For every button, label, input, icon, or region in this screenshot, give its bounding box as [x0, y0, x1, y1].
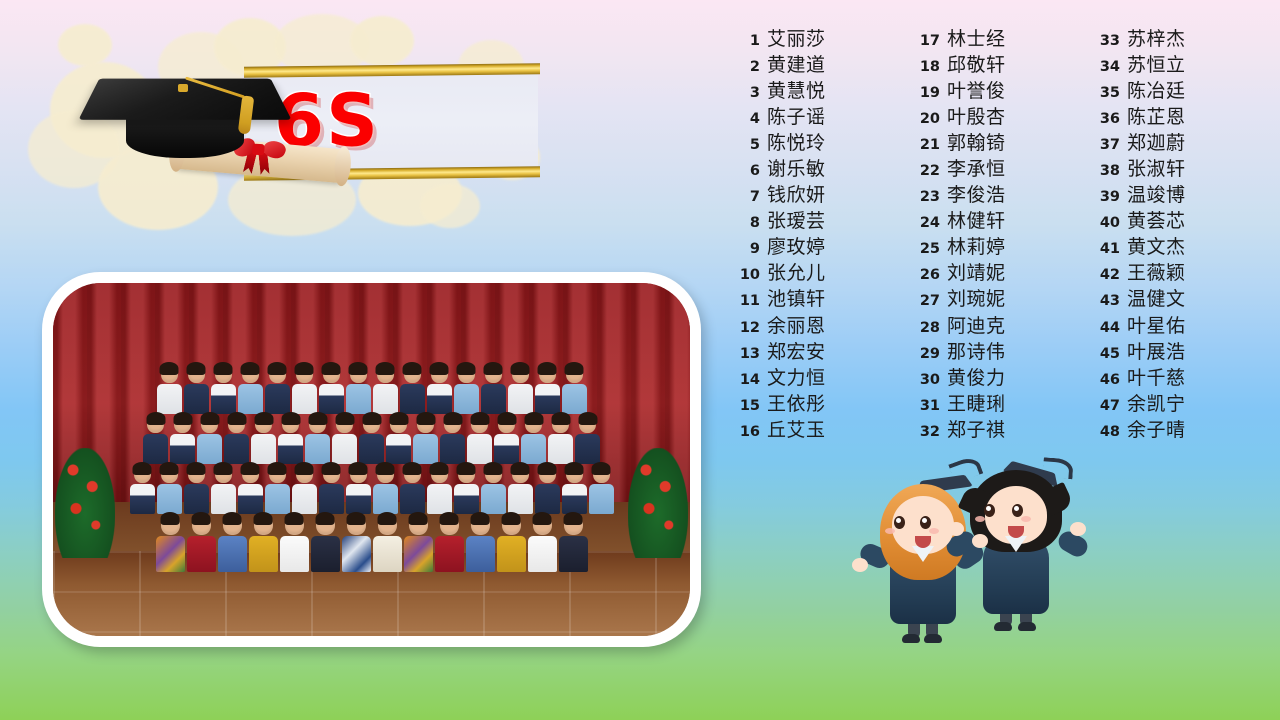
student-name: 钱欣妍	[767, 180, 826, 207]
photo-person-student	[440, 414, 465, 464]
photo-person-body	[211, 384, 236, 414]
name-list-item: 29那诗伟	[906, 337, 1086, 363]
photo-person-head	[378, 514, 397, 535]
photo-person-body	[575, 434, 600, 464]
name-list-item: 26刘靖妮	[906, 258, 1086, 284]
photo-person-student	[373, 464, 398, 514]
student-name: 黄慧悦	[767, 76, 826, 103]
photo-person-hair	[524, 412, 543, 425]
name-list-item: 30黄俊力	[906, 363, 1086, 389]
student-name: 叶展浩	[1127, 337, 1186, 364]
photo-person-hair	[295, 362, 314, 375]
student-number: 30	[906, 372, 940, 388]
photo-person-hair	[268, 462, 287, 475]
photo-person-head	[188, 364, 205, 383]
photo-person-head	[566, 364, 583, 383]
student-name: 林莉婷	[947, 232, 1006, 259]
photo-person-adult	[311, 514, 340, 572]
photo-person-head	[192, 514, 211, 535]
eye	[984, 504, 995, 517]
photo-person-student	[143, 414, 168, 464]
photo-person-student	[157, 364, 182, 414]
photo-person-head	[201, 414, 218, 433]
photo-person-head	[431, 364, 448, 383]
student-number: 22	[906, 163, 940, 179]
photo-person-hair	[443, 412, 462, 425]
photo-person-head	[431, 464, 448, 483]
student-number: 6	[726, 163, 760, 179]
student-number: 26	[906, 267, 940, 283]
student-number: 27	[906, 293, 940, 309]
photo-person-adult	[528, 514, 557, 572]
student-name: 阿迪克	[947, 311, 1006, 338]
photo-person-head	[512, 464, 529, 483]
photo-person-body	[400, 384, 425, 414]
photo-person-head	[564, 514, 583, 535]
photo-person-head	[471, 514, 490, 535]
photo-person-body	[238, 384, 263, 414]
student-number: 3	[726, 85, 760, 101]
photo-person-hair	[409, 512, 428, 525]
name-list-item: 13郑宏安	[726, 337, 906, 363]
student-name: 黄荟芯	[1127, 206, 1186, 233]
photo-person-body	[400, 484, 425, 514]
photo-person-body	[156, 536, 185, 572]
photo-person-head	[458, 364, 475, 383]
name-list-item: 20叶殷杏	[906, 102, 1086, 128]
photo-person-head	[269, 464, 286, 483]
photo-person-adult	[218, 514, 247, 572]
photo-person-head	[471, 414, 488, 433]
photo-person-adult	[342, 514, 371, 572]
photo-person-hair	[241, 362, 260, 375]
photo-person-student	[521, 414, 546, 464]
photo-person-head	[533, 514, 552, 535]
name-list-item: 5陈悦玲	[726, 128, 906, 154]
photo-person-head	[188, 464, 205, 483]
photo-person-hair	[349, 362, 368, 375]
photo-person-student	[305, 414, 330, 464]
student-name: 郑宏安	[767, 337, 826, 364]
photo-person-body	[305, 434, 330, 464]
name-list-item: 46叶千慈	[1086, 363, 1266, 389]
photo-person-student	[238, 464, 263, 514]
photo-person-hair	[502, 512, 521, 525]
photo-person-head	[498, 414, 515, 433]
photo-person-head	[525, 414, 542, 433]
photo-person-hair	[538, 462, 557, 475]
photo-person-hair	[592, 462, 611, 475]
photo-person-body	[319, 484, 344, 514]
student-number: 34	[1086, 59, 1120, 75]
student-number: 38	[1086, 163, 1120, 179]
photo-person-body	[562, 384, 587, 414]
photo-person-body	[143, 434, 168, 464]
photo-person-hair	[347, 512, 366, 525]
student-name: 余凯宁	[1127, 389, 1186, 416]
photo-person-head	[350, 464, 367, 483]
photo-person-hair	[281, 412, 300, 425]
photo-person-body	[265, 384, 290, 414]
photo-person-student	[508, 364, 533, 414]
photo-person-hair	[187, 362, 206, 375]
blush	[975, 516, 985, 522]
photo-person-hair	[497, 412, 516, 425]
photo-person-student	[481, 464, 506, 514]
name-list-item: 28阿迪克	[906, 311, 1086, 337]
student-name: 叶星佑	[1127, 311, 1186, 338]
student-number: 11	[726, 293, 760, 309]
photo-person-hair	[376, 362, 395, 375]
photo-person-body	[359, 434, 384, 464]
photo-person-hair	[578, 412, 597, 425]
photo-person-head	[161, 464, 178, 483]
photo-person-adult	[466, 514, 495, 572]
photo-person-head	[593, 464, 610, 483]
photo-person-body	[535, 484, 560, 514]
photo-person-head	[174, 414, 191, 433]
photo-person-student	[346, 464, 371, 514]
student-name: 李俊浩	[947, 180, 1006, 207]
photo-person-hair	[335, 412, 354, 425]
photo-person-student	[562, 364, 587, 414]
name-list-item: 44叶星佑	[1086, 311, 1266, 337]
photo-person-head	[440, 514, 459, 535]
student-number: 25	[906, 241, 940, 257]
student-number: 12	[726, 320, 760, 336]
photo-person-head	[323, 464, 340, 483]
student-number: 39	[1086, 189, 1120, 205]
photo-person-body	[413, 434, 438, 464]
name-list-item: 48余子晴	[1086, 415, 1266, 441]
shoe	[902, 634, 920, 643]
student-name: 温健文	[1127, 284, 1186, 311]
name-list-item: 45叶展浩	[1086, 337, 1266, 363]
photo-person-adult	[404, 514, 433, 572]
student-name: 张淑轩	[1127, 154, 1186, 181]
photo-person-head	[347, 514, 366, 535]
photo-person-head	[147, 414, 164, 433]
photo-person-body	[346, 484, 371, 514]
photo-person-hair	[484, 462, 503, 475]
photo-person-student	[130, 464, 155, 514]
photo-person-body	[197, 434, 222, 464]
photo-person-body	[278, 434, 303, 464]
name-list-item: 27刘琬妮	[906, 284, 1086, 310]
photo-person-hair	[295, 462, 314, 475]
photo-person-body	[548, 434, 573, 464]
photo-person-body	[467, 434, 492, 464]
hand	[948, 522, 964, 536]
photo-person-body	[187, 536, 216, 572]
photo-person-head	[485, 464, 502, 483]
photo-person-hair	[187, 462, 206, 475]
eye	[894, 516, 905, 529]
photo-person-hair	[538, 362, 557, 375]
photo-person-student	[481, 364, 506, 414]
name-list-item: 32郑子祺	[906, 415, 1086, 441]
photo-person-head	[409, 514, 428, 535]
photo-person-adult	[373, 514, 402, 572]
photo-person-hair	[173, 412, 192, 425]
student-number: 20	[906, 111, 940, 127]
name-list-item: 42王薇颖	[1086, 258, 1266, 284]
student-name: 叶誉俊	[947, 76, 1006, 103]
photo-person-hair	[471, 512, 490, 525]
student-number: 31	[906, 398, 940, 414]
name-list-item: 3黄慧悦	[726, 76, 906, 102]
photo-person-adult	[280, 514, 309, 572]
photo-person-student	[265, 464, 290, 514]
student-name: 陈子谣	[767, 102, 826, 129]
name-list-item: 8张瑷芸	[726, 206, 906, 232]
photo-person-body	[311, 536, 340, 572]
photo-person-body	[342, 536, 371, 572]
photo-person-hair	[214, 362, 233, 375]
student-name: 温竣博	[1127, 180, 1186, 207]
student-name: 林士经	[947, 24, 1006, 51]
photo-row-back	[53, 364, 690, 414]
photo-person-body	[497, 536, 526, 572]
student-number: 5	[726, 137, 760, 153]
hand	[1070, 522, 1086, 536]
student-number: 47	[1086, 398, 1120, 414]
photo-person-head	[579, 414, 596, 433]
photo-person-body	[404, 536, 433, 572]
name-list-item: 21郭翰锜	[906, 128, 1086, 154]
photo-person-body	[528, 536, 557, 572]
photo-person-student	[292, 464, 317, 514]
photo-person-body	[481, 384, 506, 414]
student-number: 35	[1086, 85, 1120, 101]
student-name: 邱敬轩	[947, 50, 1006, 77]
cloud-blob	[350, 16, 414, 66]
photo-person-head	[269, 364, 286, 383]
photo-person-student	[548, 414, 573, 464]
photo-person-hair	[457, 362, 476, 375]
photo-person-body	[481, 484, 506, 514]
name-list-item: 43温健文	[1086, 284, 1266, 310]
name-list-item: 23李俊浩	[906, 180, 1086, 206]
photo-person-body	[494, 434, 519, 464]
photo-person-body	[386, 434, 411, 464]
photo-person-body	[521, 434, 546, 464]
student-name: 王依彤	[767, 389, 826, 416]
student-number: 32	[906, 424, 940, 440]
name-list-item: 39温竣博	[1086, 180, 1266, 206]
photo-person-hair	[430, 362, 449, 375]
photo-person-hair	[160, 362, 179, 375]
photo-person-head	[377, 464, 394, 483]
photo-person-body	[251, 434, 276, 464]
photo-person-head	[539, 364, 556, 383]
student-number: 40	[1086, 215, 1120, 231]
photo-person-hair	[349, 462, 368, 475]
name-list-item: 14文力恒	[726, 363, 906, 389]
photo-person-head	[134, 464, 151, 483]
photo-person-student	[238, 364, 263, 414]
name-list-item: 17林士经	[906, 24, 1086, 50]
name-list-item: 12余丽恩	[726, 311, 906, 337]
photo-person-head	[282, 414, 299, 433]
name-list-item: 24林健轩	[906, 206, 1086, 232]
name-column-3: 33苏梓杰34苏恒立35陈冶廷36陈芷恩37郑迦蔚38张淑轩39温竣博40黄荟芯…	[1086, 24, 1266, 441]
name-list-item: 9廖玫婷	[726, 232, 906, 258]
name-list-item: 38张淑轩	[1086, 154, 1266, 180]
photo-person-hair	[227, 412, 246, 425]
student-name: 余子晴	[1127, 415, 1186, 442]
photo-person-hair	[268, 362, 287, 375]
student-name: 叶殷杏	[947, 102, 1006, 129]
photo-person-body	[184, 384, 209, 414]
student-name: 郑子祺	[947, 415, 1006, 442]
student-number: 45	[1086, 346, 1120, 362]
photo-person-hair	[378, 512, 397, 525]
blush	[885, 528, 895, 534]
photo-person-body	[280, 536, 309, 572]
student-number: 43	[1086, 293, 1120, 309]
photo-person-head	[444, 414, 461, 433]
photo-person-student	[535, 364, 560, 414]
photo-row-front	[53, 514, 690, 572]
photo-row-middle-lower	[53, 464, 690, 514]
eye	[1012, 504, 1023, 517]
graduation-class-slide: 6S	[0, 0, 1280, 720]
photo-row-middle-upper	[53, 414, 690, 464]
blush	[1021, 516, 1031, 522]
name-list-item: 37郑迦蔚	[1086, 128, 1266, 154]
student-number: 37	[1086, 137, 1120, 153]
photo-person-body	[435, 536, 464, 572]
photo-person-body	[265, 484, 290, 514]
student-name: 叶千慈	[1127, 363, 1186, 390]
photo-person-head	[336, 414, 353, 433]
name-list-item: 36陈芷恩	[1086, 102, 1266, 128]
photo-person-student	[454, 464, 479, 514]
name-list-item: 11池镇轩	[726, 284, 906, 310]
photo-person-body	[589, 484, 614, 514]
student-number: 28	[906, 320, 940, 336]
photo-person-hair	[160, 462, 179, 475]
student-number: 24	[906, 215, 940, 231]
photo-person-head	[502, 514, 521, 535]
photo-person-hair	[322, 462, 341, 475]
student-number: 29	[906, 346, 940, 362]
student-number: 2	[726, 59, 760, 75]
photo-person-student	[535, 464, 560, 514]
photo-person-student	[373, 364, 398, 414]
name-column-2: 17林士经18邱敬轩19叶誉俊20叶殷杏21郭翰锜22李承恒23李俊浩24林健轩…	[906, 24, 1086, 441]
student-number: 17	[906, 33, 940, 49]
photo-person-student	[319, 364, 344, 414]
photo-person-head	[296, 464, 313, 483]
photo-person-hair	[416, 412, 435, 425]
student-name: 张允儿	[767, 258, 826, 285]
photo-person-hair	[376, 462, 395, 475]
student-name: 刘琬妮	[947, 284, 1006, 311]
student-number: 13	[726, 346, 760, 362]
name-list-item: 2黄建道	[726, 50, 906, 76]
photo-person-head	[377, 364, 394, 383]
photo-person-head	[255, 414, 272, 433]
student-number: 19	[906, 85, 940, 101]
photo-person-body	[454, 384, 479, 414]
photo-person-student	[413, 414, 438, 464]
photo-person-hair	[316, 512, 335, 525]
photo-person-hair	[484, 362, 503, 375]
photo-person-adult	[435, 514, 464, 572]
photo-person-head	[242, 364, 259, 383]
photo-person-student	[346, 364, 371, 414]
photo-person-body	[157, 484, 182, 514]
hand	[852, 558, 868, 572]
photo-person-body	[373, 484, 398, 514]
student-name: 苏梓杰	[1127, 24, 1186, 51]
photo-person-head	[404, 364, 421, 383]
photo-person-body	[373, 384, 398, 414]
student-name-list: 1艾丽莎2黄建道3黄慧悦4陈子谣5陈悦玲6谢乐敏7钱欣妍8张瑷芸9廖玫婷10张允…	[726, 24, 1266, 441]
photo-person-student	[562, 464, 587, 514]
student-name: 那诗伟	[947, 337, 1006, 364]
name-list-item: 19叶誉俊	[906, 76, 1086, 102]
photo-person-student	[184, 464, 209, 514]
photo-person-hair	[362, 412, 381, 425]
photo-person-hair	[511, 362, 530, 375]
photo-person-head	[566, 464, 583, 483]
student-name: 王薇颖	[1127, 258, 1186, 285]
photo-person-adult	[156, 514, 185, 572]
photo-person-body	[238, 484, 263, 514]
student-name: 黄俊力	[947, 363, 1006, 390]
photo-person-body	[427, 484, 452, 514]
photo-person-hair	[403, 462, 422, 475]
photo-person-hair	[161, 512, 180, 525]
student-name: 张瑷芸	[767, 206, 826, 233]
student-name: 陈悦玲	[767, 128, 826, 155]
student-number: 9	[726, 241, 760, 257]
photo-person-head	[228, 414, 245, 433]
photo-person-student	[224, 414, 249, 464]
student-number: 15	[726, 398, 760, 414]
photo-person-body	[157, 384, 182, 414]
name-column-1: 1艾丽莎2黄建道3黄慧悦4陈子谣5陈悦玲6谢乐敏7钱欣妍8张瑷芸9廖玫婷10张允…	[726, 24, 906, 441]
photo-person-head	[285, 514, 304, 535]
class-photo	[53, 283, 690, 636]
student-name: 李承恒	[947, 154, 1006, 181]
graduation-cap-icon	[90, 52, 300, 162]
student-number: 1	[726, 33, 760, 49]
photo-person-student	[278, 414, 303, 464]
name-list-item: 25林莉婷	[906, 232, 1086, 258]
photo-person-student	[170, 414, 195, 464]
photo-person-head	[223, 514, 242, 535]
student-name: 丘艾玉	[767, 415, 826, 442]
class-logo-banner-group: 6S	[28, 14, 540, 244]
photo-person-hair	[322, 362, 341, 375]
student-name: 池镇轩	[767, 284, 826, 311]
photo-person-head	[539, 464, 556, 483]
photo-person-body	[559, 536, 588, 572]
photo-person-head	[350, 364, 367, 383]
photo-person-student	[292, 364, 317, 414]
photo-person-head	[458, 464, 475, 483]
photo-person-hair	[389, 412, 408, 425]
photo-person-body	[562, 484, 587, 514]
photo-person-student	[211, 464, 236, 514]
photo-person-hair	[223, 512, 242, 525]
photo-person-head	[404, 464, 421, 483]
photo-person-body	[184, 484, 209, 514]
